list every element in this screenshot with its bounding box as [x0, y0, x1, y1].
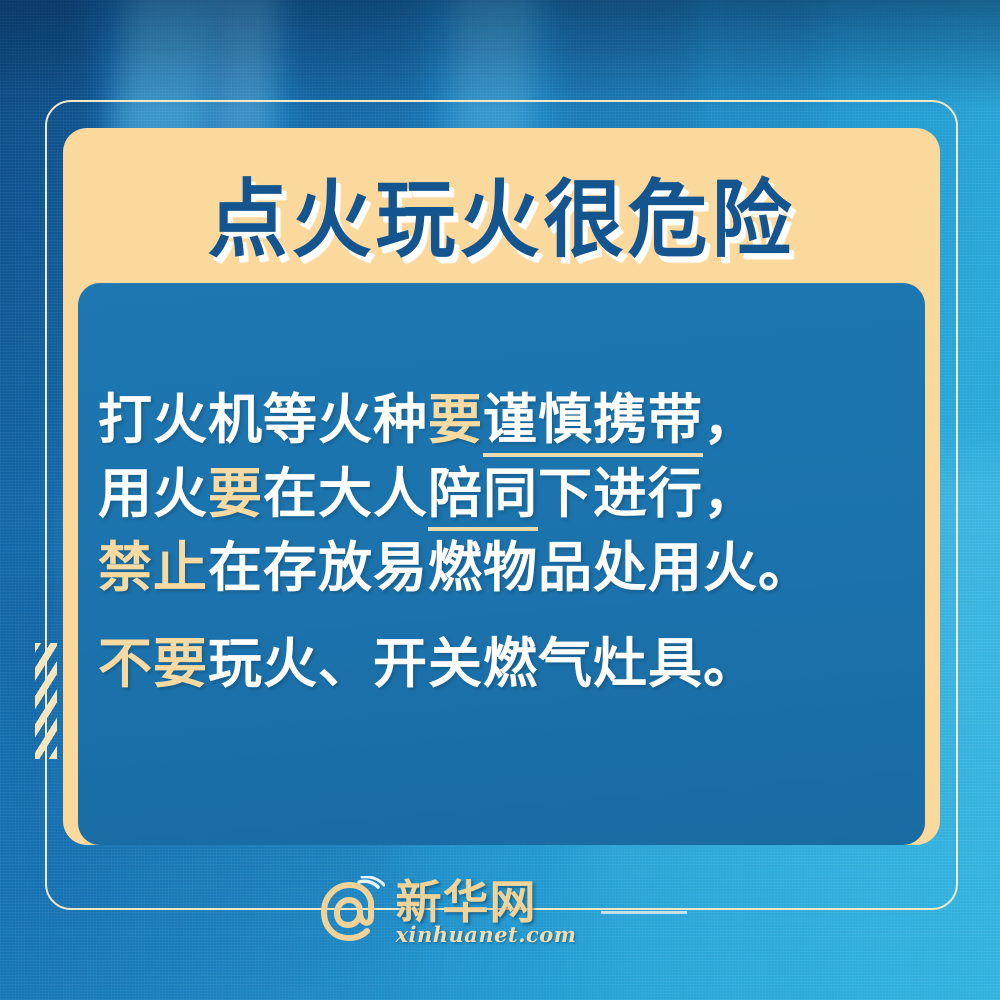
advice-line-1-seg-underline: 谨慎携带: [483, 388, 703, 457]
advice-line-3: 禁止在存放易燃物品处用火。: [98, 531, 908, 605]
advice-line-1-seg-punct: ，: [703, 388, 758, 451]
advice-line-2-seg-plain-b: 在大人: [263, 462, 428, 525]
logo-url: xinhuanet.com: [395, 922, 576, 947]
advice-line-2: 用火要在大人陪同下进行，: [98, 457, 908, 531]
advice-line-3-seg-plain: 在存放易燃物品处用火。: [208, 536, 813, 599]
advice-line-2-seg-plain-a: 用火: [98, 462, 208, 525]
page-title: 点火玩火很危险: [208, 151, 796, 274]
advice-line-1: 打火机等火种要谨慎携带，: [98, 383, 908, 457]
logo-text-block: 新华网 xinhuanet.com: [395, 878, 576, 947]
logo-divider: [601, 911, 687, 914]
diagonal-stripes-decoration: [35, 643, 57, 759]
background-top-shade: [0, 0, 1000, 110]
advice-line-2-seg-plain-c: 下进行，: [538, 462, 758, 525]
advice-list: 打火机等火种要谨慎携带， 用火要在大人陪同下进行， 禁止在存放易燃物品处用火。 …: [98, 383, 908, 701]
at-sign-icon: [313, 876, 385, 948]
title-container: 点火玩火很危险: [63, 150, 940, 275]
advice-line-4: 不要玩火、开关燃气灶具。: [98, 627, 908, 701]
brand-logo[interactable]: 新华网 xinhuanet.com: [0, 876, 1000, 948]
advice-line-1-seg-highlight: 要: [428, 388, 483, 451]
advice-line-2-seg-highlight: 要: [208, 462, 263, 525]
advice-line-4-seg-highlight: 不要: [98, 632, 208, 695]
advice-line-4-seg-plain: 玩火、开关燃气灶具。: [208, 632, 758, 695]
advice-line-3-seg-highlight: 禁止: [98, 536, 208, 599]
advice-line-2-seg-underline: 陪同: [428, 462, 538, 531]
advice-line-1-seg-plain: 打火机等火种: [98, 388, 428, 451]
logo-name: 新华网: [395, 878, 536, 926]
